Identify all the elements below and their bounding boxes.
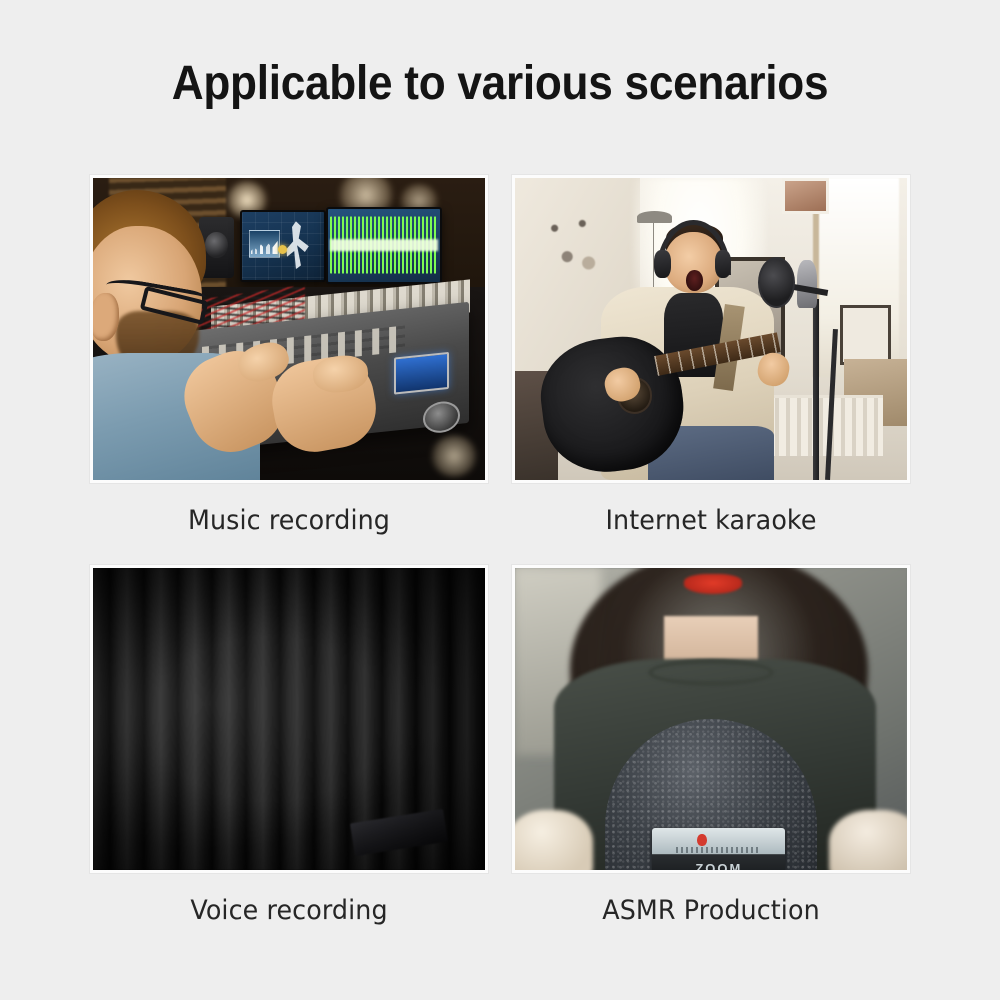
scenario-grid: Music recording: [90, 175, 910, 955]
foreground-cup-right: [829, 810, 907, 870]
waveform-screen: [328, 209, 440, 282]
red-lips: [684, 574, 743, 594]
display-monitor-right: [326, 207, 442, 284]
zoom-handheld-recorder: ZOOM: [652, 828, 785, 870]
scenario-photo-music-recording: [90, 175, 488, 483]
recorder-brand-logo-icon: [697, 834, 706, 846]
scenario-caption-internet-karaoke: Internet karaoke: [524, 505, 898, 536]
headphone-earcup-right: [715, 250, 731, 277]
scenario-card-internet-karaoke[interactable]: Internet karaoke: [512, 175, 910, 565]
page-title: Applicable to various scenarios: [40, 58, 960, 111]
scenario-card-voice-recording[interactable]: Voice recording: [90, 565, 488, 955]
scenario-caption-music-recording: Music recording: [102, 505, 476, 536]
scenario-photo-internet-karaoke: [512, 175, 910, 483]
audio-waveform-core: [330, 239, 437, 251]
choir-singers-scene: [93, 568, 485, 870]
display-monitor-left: [240, 210, 326, 282]
recorder-model-text: [676, 847, 761, 852]
console-lcd-display: [394, 352, 449, 394]
spectrum-analysis-screen: [242, 212, 324, 280]
floor-lamp: [637, 211, 672, 223]
analysis-3d-shape: [285, 221, 313, 269]
karaoke-singer-scene: [515, 178, 907, 480]
scenario-caption-asmr-production: ASMR Production: [524, 895, 898, 926]
analysis-thumbnail: [249, 230, 280, 259]
bokeh-light: [430, 435, 478, 477]
asmr-recorder-scene: ZOOM: [515, 568, 907, 870]
wall-poster: [782, 178, 829, 214]
scenario-photo-asmr-production: ZOOM: [512, 565, 910, 873]
studio-console-scene: [93, 178, 485, 480]
scenario-card-music-recording[interactable]: Music recording: [90, 175, 488, 565]
scenario-caption-voice-recording: Voice recording: [102, 895, 476, 926]
scenario-card-asmr-production[interactable]: ZOOM ASMR Production: [512, 565, 910, 955]
vignette-overlay: [93, 568, 485, 870]
foreground-cup-left: [515, 810, 593, 870]
scenarios-page: Applicable to various scenarios: [0, 0, 1000, 1000]
wall-hooks: [542, 214, 605, 293]
pop-filter: [758, 257, 795, 308]
scenario-photo-voice-recording: [90, 565, 488, 873]
headphone-earcup-left: [654, 250, 670, 277]
microphone-stand: [813, 299, 819, 480]
recorder-brand-name: ZOOM: [682, 859, 757, 870]
sweater-collar: [648, 659, 773, 686]
condenser-microphone: [797, 260, 817, 308]
analysis-marker-dot: [278, 245, 287, 254]
small-picture-frame: [840, 305, 891, 365]
